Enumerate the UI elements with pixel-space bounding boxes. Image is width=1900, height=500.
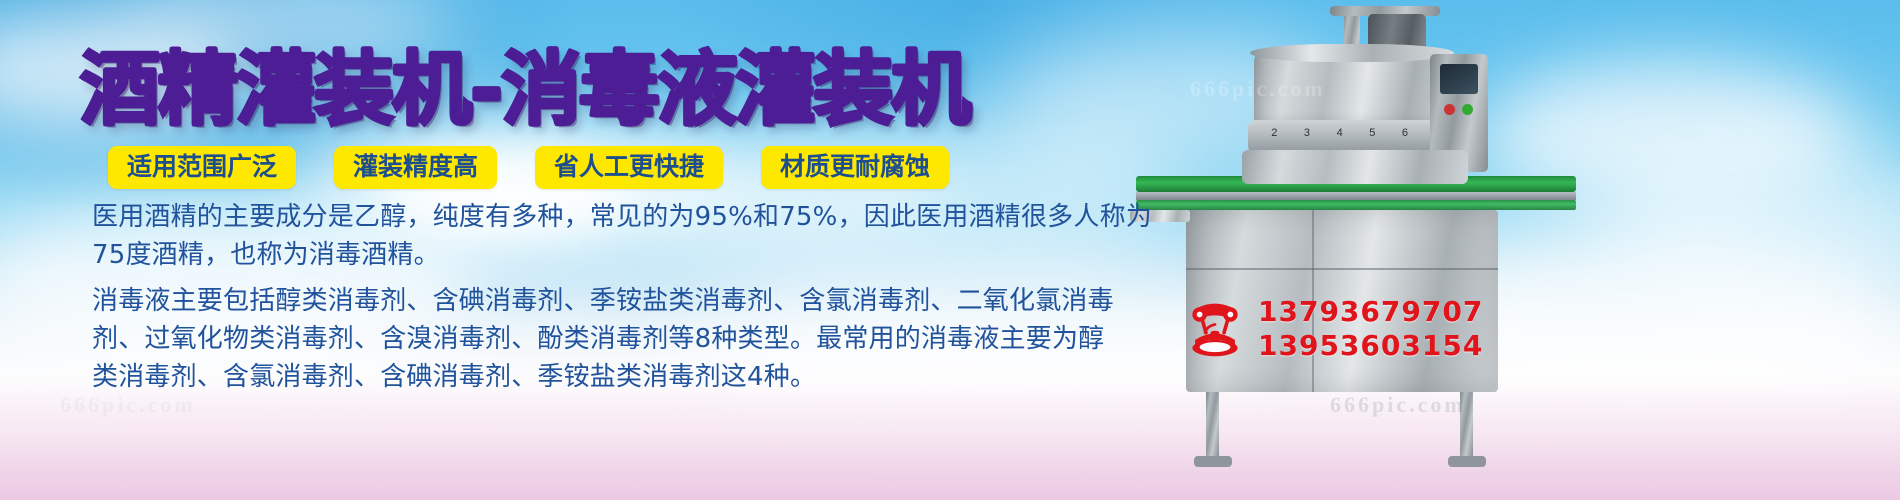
machine-drum-rim [1250,44,1454,62]
page-title: 酒精灌装机-消毒液灌装机 [80,48,969,132]
copy-line: 剂、过氧化物类消毒剂、含溴消毒剂、酚类消毒剂等8种类型。最常用的消毒液主要为醇 [92,320,1102,358]
feature-badge-2: 灌装精度高 [334,146,497,189]
machine-control-button [1444,104,1455,115]
dial-number: 6 [1402,127,1408,139]
phone-number-list: 13793679707 13953603154 [1258,296,1483,362]
paragraph-2: 消毒液主要包括醇类消毒剂、含碘消毒剂、季铵盐类消毒剂、含氯消毒剂、二氧化氯消毒 … [92,282,1102,396]
machine-cabinet-seam [1186,268,1498,270]
machine-control-screen [1440,64,1478,94]
machine-leg [1206,392,1219,458]
machine-carousel-housing [1242,150,1468,184]
dial-number: 5 [1369,127,1375,139]
machine-conveyor-guard [1136,200,1576,210]
copy-line: 75度酒精，也称为消毒酒精。 [92,236,1102,274]
paragraph-1: 医用酒精的主要成分是乙醇，纯度有多种，常见的为95%和75%，因此医用酒精很多人… [92,198,1102,274]
cloud-puff [1600,150,1900,300]
copy-line: 医用酒精的主要成分是乙醇，纯度有多种，常见的为95%和75%，因此医用酒精很多人… [92,198,1102,236]
dial-number: 3 [1304,127,1310,139]
promo-banner: 2 3 4 5 6 7 酒精灌装机-消毒液灌装机 适用范围 [0,0,1900,500]
body-copy: 医用酒精的主要成分是乙醇，纯度有多种，常见的为95%和75%，因此医用酒精很多人… [92,198,1102,396]
feature-badge-1: 适用范围广泛 [108,146,296,189]
feature-badge-4: 材质更耐腐蚀 [761,146,949,189]
copy-line: 类消毒剂、含氯消毒剂、含碘消毒剂、季铵盐类消毒剂这4种。 [92,358,1102,396]
feature-badge-3: 省人工更快捷 [535,146,723,189]
phone-number-primary: 13793679707 [1258,296,1483,328]
contact-block: 13793679707 13953603154 [1186,296,1483,362]
copy-line: 消毒液主要包括醇类消毒剂、含碘消毒剂、季铵盐类消毒剂、含氯消毒剂、二氧化氯消毒 [92,282,1102,320]
machine-foot-pad [1194,456,1232,467]
dial-number: 4 [1337,127,1343,139]
dial-number: 2 [1271,127,1277,139]
feature-badge-list: 适用范围广泛 灌装精度高 省人工更快捷 材质更耐腐蚀 [108,146,949,189]
machine-dial-numbers: 2 3 4 5 6 7 [1258,124,1454,142]
telephone-icon [1186,300,1244,358]
pink-glow [0,380,1900,500]
phone-number-secondary: 13953603154 [1258,330,1483,362]
machine-foot-pad [1448,456,1486,467]
machine-control-button [1462,104,1473,115]
machine-leg [1460,392,1473,458]
machine-conveyor-rail [1136,192,1576,200]
machine-photo: 2 3 4 5 6 7 [1130,0,1580,500]
